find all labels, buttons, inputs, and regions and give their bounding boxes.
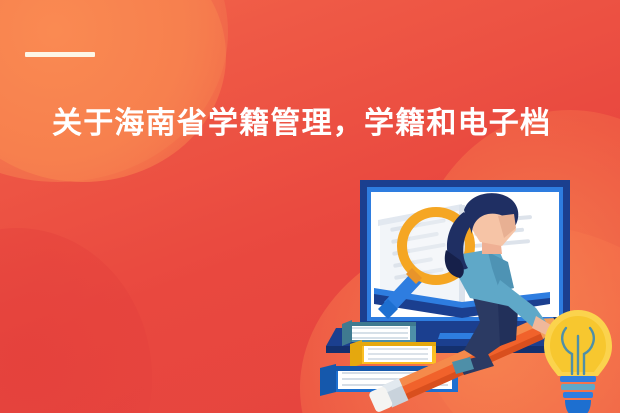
accent-rule — [25, 52, 95, 57]
background-blob-orange-core — [0, 0, 226, 182]
banner-headline: 关于海南省学籍管理，学籍和电子档 — [52, 104, 612, 144]
student-learning-illustration — [312, 176, 620, 413]
background-blob-red-left — [0, 228, 152, 413]
promo-banner: 关于海南省学籍管理，学籍和电子档 — [0, 0, 620, 413]
